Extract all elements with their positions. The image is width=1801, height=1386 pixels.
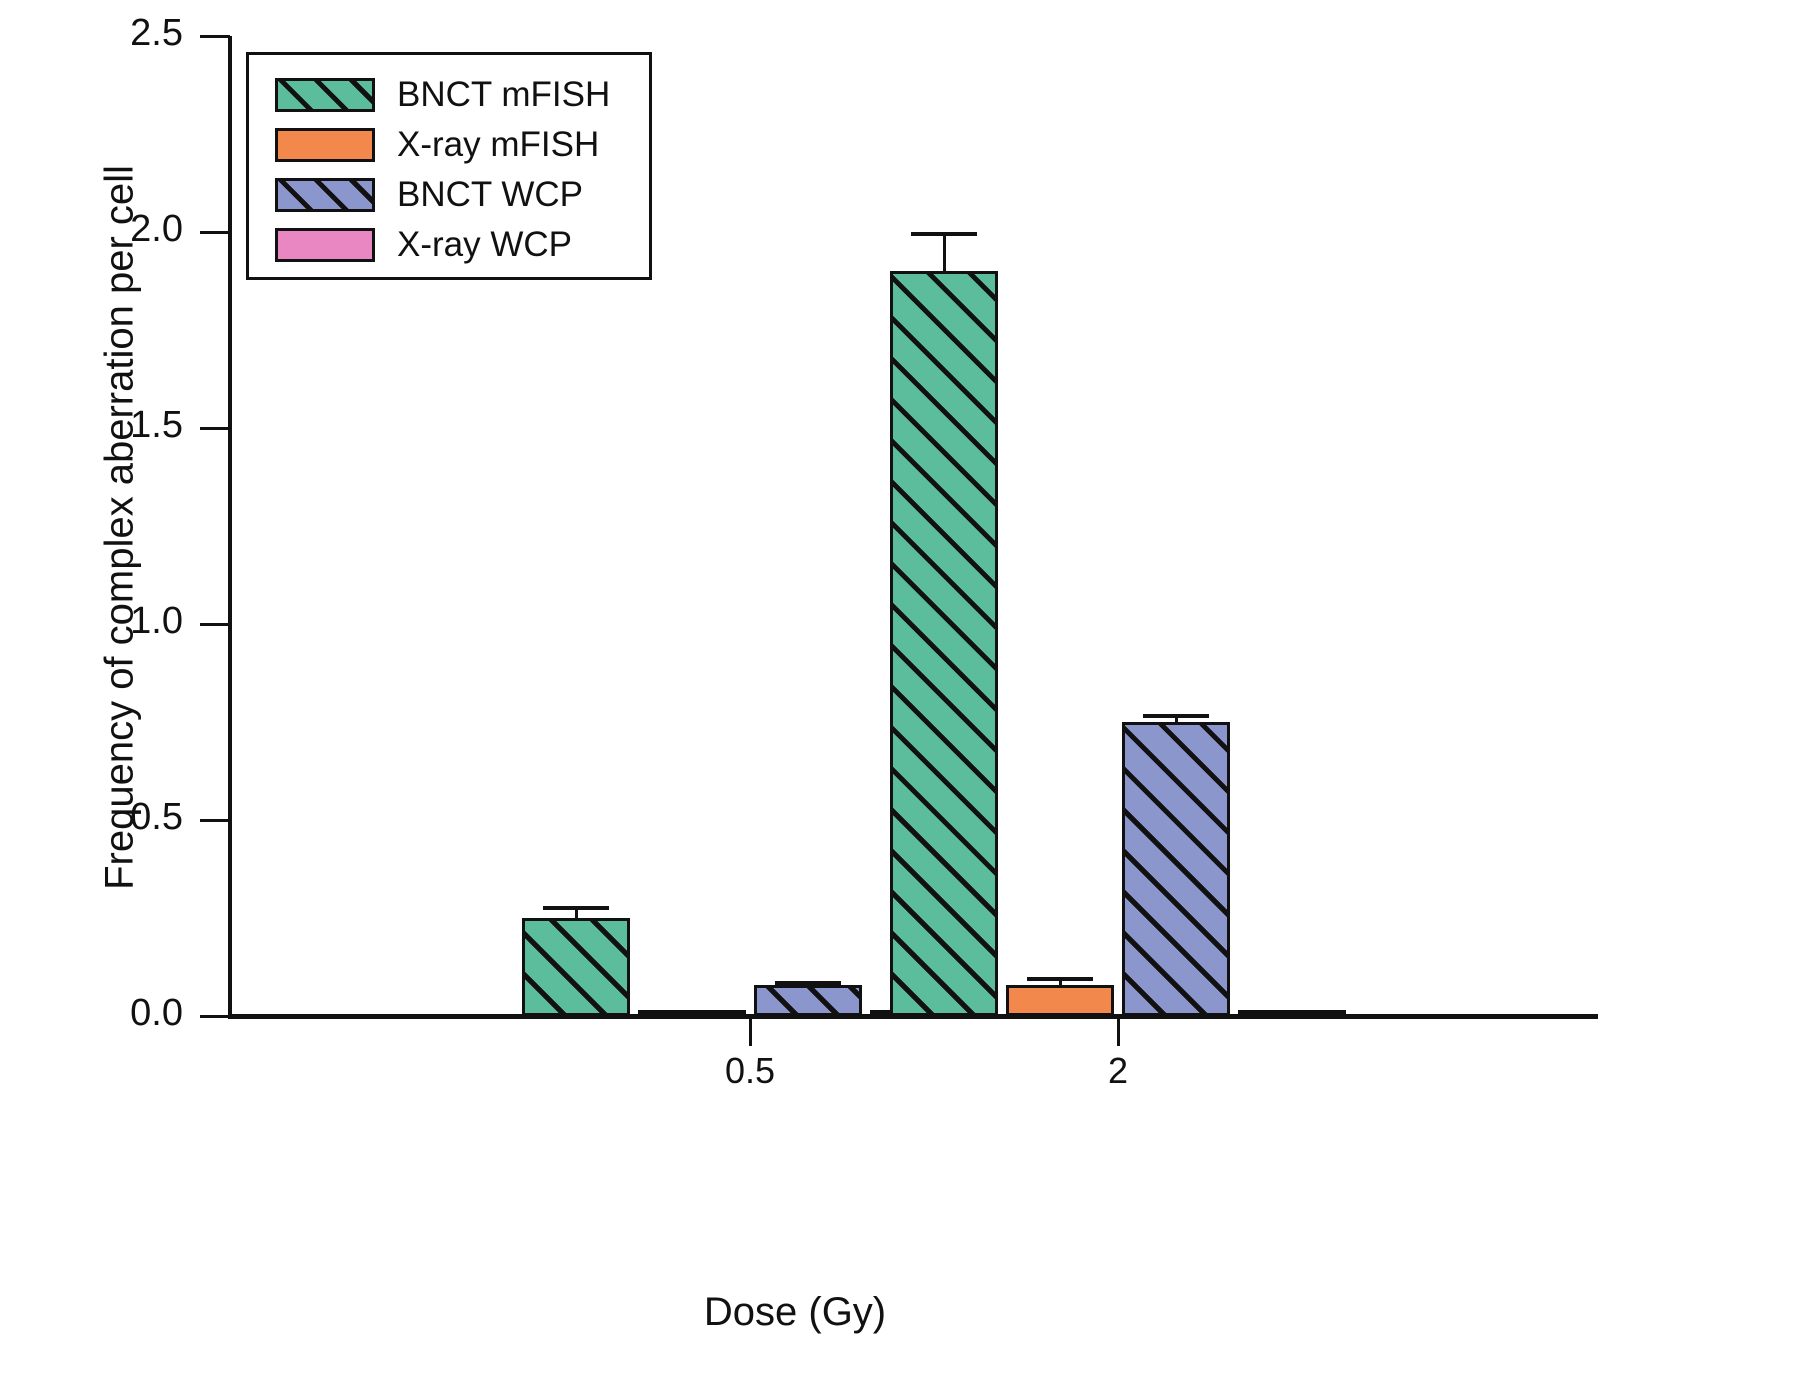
legend-swatch-icon-1 xyxy=(275,128,375,162)
bar-x-ray-mfish-2 xyxy=(1006,985,1114,1016)
legend-label-3: X-ray WCP xyxy=(397,228,572,262)
y-tick-mark xyxy=(200,1015,230,1018)
bar-chart-figure: Frequency of complex aberration per cell… xyxy=(0,0,1801,1386)
error-bar-cap xyxy=(1143,714,1209,718)
legend-item-0[interactable]: BNCT mFISH xyxy=(275,73,610,117)
y-tick-mark xyxy=(200,819,230,822)
error-bar-cap xyxy=(1027,977,1093,981)
y-tick-label: 0.0 xyxy=(95,992,183,1035)
bar-x-ray-wcp-2 xyxy=(1238,1010,1346,1016)
bar-bnct-wcp-0.5 xyxy=(754,985,862,1016)
legend-label-1: X-ray mFISH xyxy=(397,128,599,162)
legend-item-2[interactable]: BNCT WCP xyxy=(275,173,583,217)
error-bar-cap xyxy=(543,906,609,910)
y-tick-label: 0.5 xyxy=(95,796,183,839)
x-axis-title: Dose (Gy) xyxy=(230,1290,1360,1335)
legend-item-3[interactable]: X-ray WCP xyxy=(275,223,572,267)
y-axis-title: Frequency of complex aberration per cell xyxy=(98,38,143,1018)
error-bar-cap xyxy=(911,232,977,236)
y-tick-label: 2.0 xyxy=(95,208,183,251)
y-tick-mark xyxy=(200,623,230,626)
y-tick-mark xyxy=(200,231,230,234)
y-tick-label: 2.5 xyxy=(95,12,183,55)
y-tick-mark xyxy=(200,427,230,430)
x-tick-mark xyxy=(749,1018,752,1046)
x-tick-label: 2 xyxy=(1038,1050,1198,1092)
y-tick-label: 1.5 xyxy=(95,404,183,447)
legend-swatch-icon-0 xyxy=(275,78,375,112)
x-tick-label: 0.5 xyxy=(670,1050,830,1092)
y-tick-mark xyxy=(200,35,230,38)
legend-swatch-icon-3 xyxy=(275,228,375,262)
legend-label-2: BNCT WCP xyxy=(397,178,583,212)
legend-item-1[interactable]: X-ray mFISH xyxy=(275,123,599,167)
legend: BNCT mFISH X-ray mFISH BNCT WCP X-ray WC… xyxy=(246,52,652,280)
legend-label-0: BNCT mFISH xyxy=(397,78,610,112)
y-tick-label: 1.0 xyxy=(95,600,183,643)
error-bar-cap xyxy=(775,981,841,985)
error-bar-cap xyxy=(659,1010,725,1014)
bar-bnct-mfish-2 xyxy=(890,271,998,1016)
bar-bnct-wcp-2 xyxy=(1122,722,1230,1016)
bar-bnct-mfish-0.5 xyxy=(522,918,630,1016)
error-bar-stem xyxy=(943,232,946,271)
legend-swatch-icon-2 xyxy=(275,178,375,212)
x-tick-mark xyxy=(1117,1018,1120,1046)
